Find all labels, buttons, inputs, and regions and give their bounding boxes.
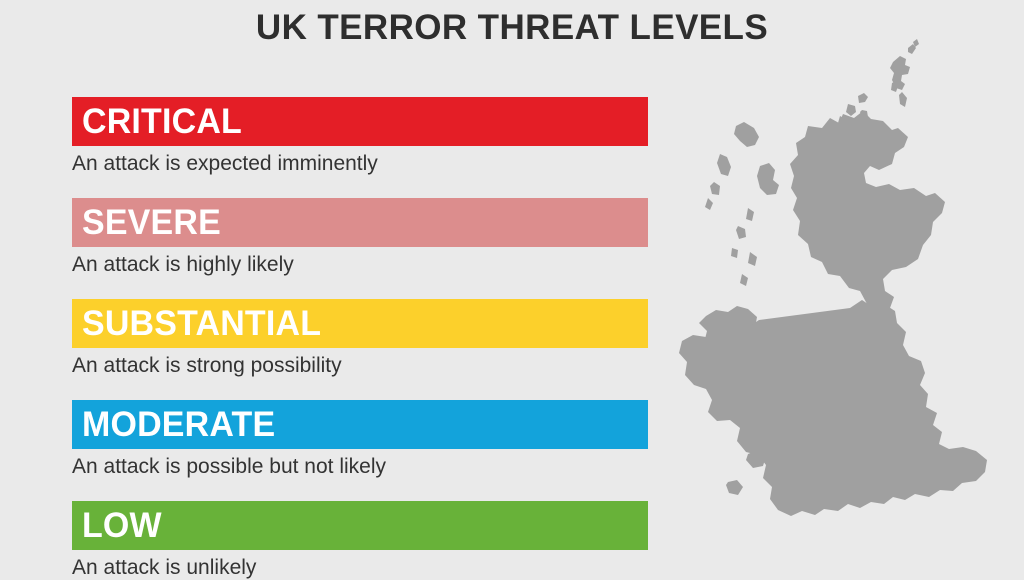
uk-terror-threat-levels-infographic: UK TERROR THREAT LEVELS CRITICAL An atta… <box>0 0 1024 577</box>
threat-level-description-critical: An attack is expected imminently <box>72 152 648 176</box>
threat-level-item-critical: CRITICAL An attack is expected imminentl… <box>72 97 648 176</box>
map-region-inner-hebrides <box>731 163 779 286</box>
threat-level-bar-moderate: MODERATE <box>72 400 648 449</box>
threat-level-description-substantial: An attack is strong possibility <box>72 354 648 378</box>
threat-level-item-severe: SEVERE An attack is highly likely <box>72 198 648 277</box>
threat-level-item-low: LOW An attack is unlikely <box>72 501 648 580</box>
threat-level-item-moderate: MODERATE An attack is possible but not l… <box>72 400 648 479</box>
threat-level-label-moderate: MODERATE <box>82 407 275 442</box>
map-region-outer-hebrides <box>705 122 759 210</box>
threat-level-description-moderate: An attack is possible but not likely <box>72 455 648 479</box>
map-region-shetland <box>890 39 919 107</box>
threat-level-label-low: LOW <box>82 508 162 543</box>
uk-map-illustration <box>662 30 1022 570</box>
map-region-scotland <box>790 111 945 310</box>
threat-level-description-severe: An attack is highly likely <box>72 253 648 277</box>
uk-map-paths <box>679 39 987 516</box>
threat-level-list: CRITICAL An attack is expected imminentl… <box>72 97 648 580</box>
threat-level-item-substantial: SUBSTANTIAL An attack is strong possibil… <box>72 299 648 378</box>
threat-level-bar-critical: CRITICAL <box>72 97 648 146</box>
threat-level-label-substantial: SUBSTANTIAL <box>82 306 321 341</box>
threat-level-bar-low: LOW <box>72 501 648 550</box>
threat-level-label-critical: CRITICAL <box>82 104 242 139</box>
threat-level-bar-substantial: SUBSTANTIAL <box>72 299 648 348</box>
threat-level-description-low: An attack is unlikely <box>72 556 648 580</box>
threat-level-bar-severe: SEVERE <box>72 198 648 247</box>
threat-level-label-severe: SEVERE <box>82 205 221 240</box>
map-region-england-wales <box>679 300 987 516</box>
